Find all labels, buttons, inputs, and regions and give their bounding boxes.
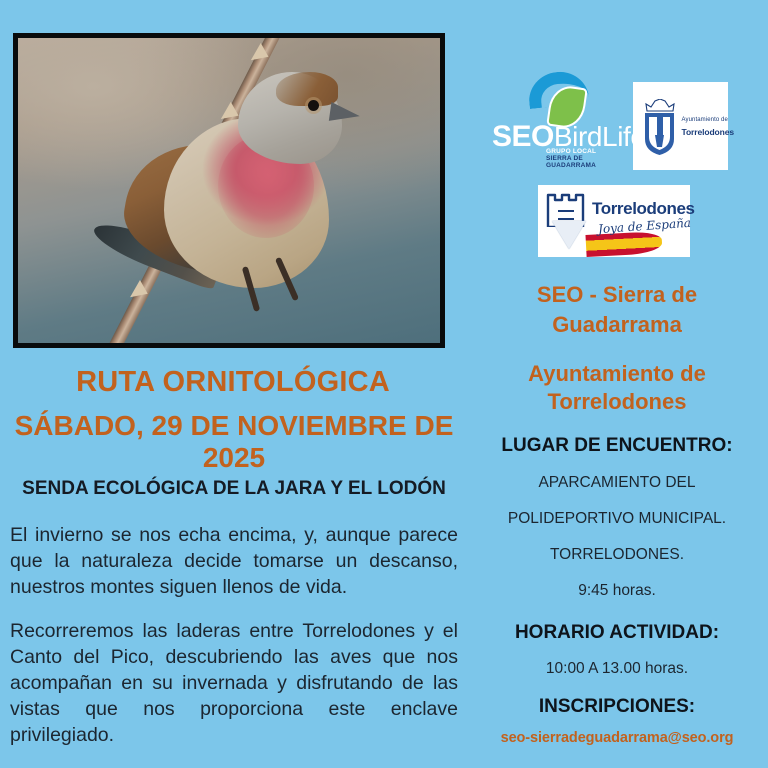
description-paragraph-1: El invierno se nos echa encima, y, aunqu… <box>10 522 458 600</box>
seo-word: SEO <box>492 120 554 153</box>
ayuntamiento-line2: Torrelodones <box>682 127 734 137</box>
registration-email[interactable]: seo-sierradeguadarrama@seo.org <box>466 730 768 746</box>
organizer-seo: SEO - Sierra de Guadarrama <box>466 280 768 340</box>
poster-root: RUTA ORNITOLÓGICA SÁBADO, 29 DE NOVIEMBR… <box>0 0 768 768</box>
page-title: RUTA ORNITOLÓGICA <box>0 366 466 399</box>
crown-icon <box>645 99 675 112</box>
meeting-point-time: 9:45 horas. <box>466 582 768 600</box>
gem-icon <box>552 221 586 249</box>
torrelodones-brand-logo: Torrelodones Joya de España <box>538 185 690 257</box>
bird-photo <box>13 33 445 348</box>
organizer-seo-line2: Guadarrama <box>466 310 768 340</box>
seo-group-label: GRUPO LOCAL <box>546 148 596 155</box>
meeting-point-line2: POLIDEPORTIVO MUNICIPAL. <box>466 510 768 528</box>
description-paragraph-2: Recorreremos las laderas entre Torrelodo… <box>10 618 458 748</box>
spain-flag-icon <box>585 231 662 257</box>
organizer-ayuntamiento: Ayuntamiento de Torrelodones <box>466 360 768 416</box>
meeting-point-line3: TORRELODONES. <box>466 546 768 564</box>
bird-beak-icon <box>329 102 361 125</box>
schedule-heading: HORARIO ACTIVIDAD: <box>466 622 768 644</box>
bird-eye-icon <box>308 100 319 111</box>
registration-heading: INSCRIPCIONES: <box>466 696 768 718</box>
ayuntamiento-logo: Ayuntamiento de Torrelodones <box>633 82 728 170</box>
photo-background <box>18 38 440 343</box>
organizer-seo-line1: SEO - Sierra de <box>466 280 768 310</box>
left-column: RUTA ORNITOLÓGICA SÁBADO, 29 DE NOVIEMBR… <box>0 0 466 768</box>
route-subtitle: SENDA ECOLÓGICA DE LA JARA Y EL LODÓN <box>6 478 462 500</box>
ayuntamiento-line1: Ayuntamiento de <box>682 117 728 123</box>
right-column: SEOBirdLife GRUPO LOCAL SIERRA DE GUADAR… <box>466 0 768 768</box>
schedule-time: 10:00 A 13.00 horas. <box>466 660 768 678</box>
organizer-ayto-line2: Torrelodones <box>466 388 768 416</box>
event-date: SÁBADO, 29 DE NOVIEMBRE DE 2025 <box>9 410 459 474</box>
seo-birdlife-logo: SEOBirdLife GRUPO LOCAL SIERRA DE GUADAR… <box>492 72 620 164</box>
meeting-point-line1: APARCAMIENTO DEL <box>466 474 768 492</box>
coat-of-arms-icon <box>643 113 676 155</box>
linnet-bird-illustration <box>98 60 398 340</box>
seo-region-label: SIERRA DE GUADARRAMA <box>546 155 620 169</box>
organizer-ayto-line1: Ayuntamiento de <box>466 360 768 388</box>
meeting-point-heading: LUGAR DE ENCUENTRO: <box>466 435 768 457</box>
